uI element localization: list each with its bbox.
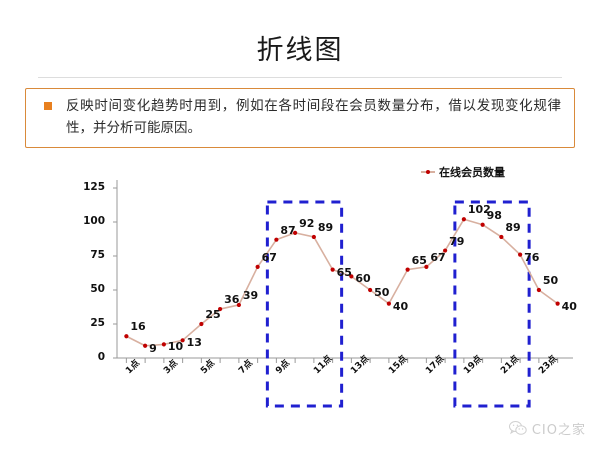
data-point-label: 67 (262, 251, 277, 264)
data-point-label: 25 (205, 308, 220, 321)
chart-canvas (75, 160, 575, 410)
data-point-label: 50 (543, 274, 558, 287)
y-axis-tick-label: 50 (75, 283, 105, 295)
data-point-label: 60 (355, 272, 370, 285)
data-point-label: 36 (224, 293, 239, 306)
data-point-label: 92 (299, 217, 314, 230)
data-point-label: 9 (149, 342, 157, 355)
y-axis-tick-label: 100 (75, 215, 105, 227)
data-point-label: 40 (562, 300, 577, 313)
data-point-label: 76 (524, 251, 539, 264)
y-axis-tick-label: 125 (75, 181, 105, 193)
wechat-icon (509, 421, 527, 436)
data-point-label: 16 (130, 320, 145, 333)
y-axis-tick-label: 0 (75, 351, 105, 363)
data-point-label: 10 (168, 340, 183, 353)
slide-root: 折线图 反映时间变化趋势时用到，例如在各时间段在会员数量分布，借以发现变化规律性… (0, 0, 600, 450)
data-point-label: 67 (430, 251, 445, 264)
title-divider (38, 77, 562, 78)
data-point-label: 65 (412, 254, 427, 267)
data-point-label: 13 (187, 336, 202, 349)
data-point-label: 89 (318, 221, 333, 234)
data-point-label: 40 (393, 300, 408, 313)
data-point-label: 79 (449, 235, 464, 248)
y-axis-tick-label: 25 (75, 317, 105, 329)
data-point-label: 39 (243, 289, 258, 302)
watermark: CIO之家 (509, 419, 586, 438)
callout-box: 反映时间变化趋势时用到，例如在各时间段在会员数量分布，借以发现变化规律性，并分析… (25, 88, 575, 148)
line-chart: 在线会员数量 02550751001251点3点5点7点9点11点13点15点1… (75, 160, 575, 410)
data-point-label: 50 (374, 286, 389, 299)
data-point-label: 89 (505, 221, 520, 234)
data-point-label: 98 (487, 209, 502, 222)
y-axis-tick-label: 75 (75, 249, 105, 261)
watermark-text: CIO之家 (532, 419, 586, 438)
data-point-label: 65 (337, 266, 352, 279)
square-bullet-icon (44, 102, 52, 110)
data-point-label: 87 (280, 224, 295, 237)
page-title: 折线图 (0, 28, 600, 67)
callout-text: 反映时间变化趋势时用到，例如在各时间段在会员数量分布，借以发现变化规律性，并分析… (66, 95, 561, 139)
